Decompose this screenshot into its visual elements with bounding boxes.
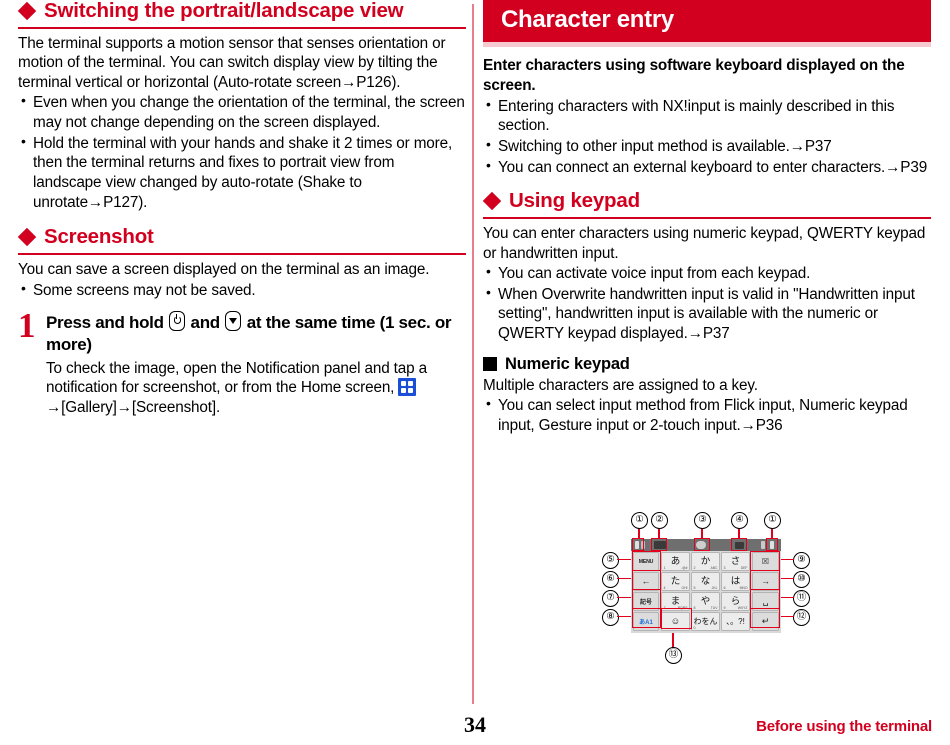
highlight-left-arrow-key — [632, 570, 661, 590]
manual-page: Switching the portrait/landscape view Th… — [0, 0, 950, 745]
page-number: 34 — [455, 712, 495, 738]
highlight-toolbar-handle-right — [766, 538, 778, 551]
step-description: To check the image, open the Notificatio… — [46, 359, 466, 418]
list-item: You can connect an external keyboard to … — [483, 158, 931, 178]
list-item: You can activate voice input from each k… — [483, 264, 931, 284]
callout-7: ⑦ — [602, 590, 619, 607]
list-item: You can select input method from Flick i… — [483, 396, 931, 435]
heading-text: Switching the portrait/landscape view — [44, 0, 403, 22]
square-bullet-icon — [483, 357, 497, 371]
step-content: Press and hold and at the same time (1 s… — [46, 311, 466, 417]
callout-1: ① — [631, 512, 648, 529]
kana-key-ha[interactable]: は 6 MNO — [721, 572, 750, 591]
step-1: 1 Press and hold and at the same time (1… — [18, 311, 466, 417]
list-item: Hold the terminal with your hands and sh… — [18, 134, 466, 213]
right-column: Character entry Enter characters using s… — [483, 0, 931, 436]
section-screenshot: Screenshot You can save a screen display… — [18, 226, 466, 417]
highlight-resize — [694, 538, 710, 551]
intro-bullet-list: Entering characters with NX!input is mai… — [483, 97, 931, 178]
volume-down-key-icon — [225, 311, 241, 331]
paragraph: Multiple characters are assigned to a ke… — [483, 376, 931, 396]
toolbar-handle-icon-3[interactable] — [761, 541, 765, 549]
callout-9: ⑨ — [793, 552, 810, 569]
heading-rule — [18, 253, 466, 255]
kana-key-ka[interactable]: か 2 ABC — [691, 552, 720, 571]
callout-13: ⑬ — [665, 647, 682, 664]
highlight-toolbar-handle — [632, 538, 644, 551]
heading-text: Numeric keypad — [505, 355, 630, 374]
kana-key-a[interactable]: あ 1 .@# — [661, 552, 690, 571]
column-divider — [472, 4, 474, 704]
bullet-list: You can activate voice input from each k… — [483, 264, 931, 344]
callout-1b: ① — [764, 512, 781, 529]
callout-2: ② — [651, 512, 668, 529]
left-column: Switching the portrait/landscape view Th… — [18, 0, 466, 418]
list-item: Even when you change the orientation of … — [18, 93, 466, 132]
list-item: Some screens may not be saved. — [18, 281, 466, 301]
section-using-keypad: Using keypad You can enter characters us… — [483, 190, 931, 343]
intro-paragraph: Enter characters using software keyboard… — [483, 56, 931, 95]
kana-key-ta[interactable]: た 4 GHI — [661, 572, 690, 591]
footer-chapter-label: Before using the terminal — [756, 718, 932, 735]
leader-line — [672, 633, 674, 648]
step-title-part1: Press and hold — [46, 313, 164, 332]
list-item: Entering characters with NX!input is mai… — [483, 97, 931, 136]
heading-rule — [18, 27, 466, 29]
highlight-emoji-key — [661, 608, 692, 629]
callout-11: ⑪ — [793, 590, 810, 607]
section-heading-screenshot: Screenshot — [18, 226, 466, 248]
step-desc-part1: To check the image, open the Notificatio… — [46, 360, 427, 397]
callout-8: ⑧ — [602, 609, 619, 626]
highlight-space-key — [750, 589, 780, 609]
callout-3: ③ — [694, 512, 711, 529]
chapter-banner: Character entry — [483, 0, 931, 42]
app-drawer-icon — [398, 378, 416, 396]
highlight-menu-key — [632, 551, 661, 571]
highlight-input-mode-key — [632, 608, 661, 628]
heading-rule — [483, 217, 931, 219]
callout-10: ⑩ — [793, 571, 810, 588]
highlight-right-arrow-key — [750, 570, 780, 590]
step-number: 1 — [18, 311, 46, 417]
bullet-list: Some screens may not be saved. — [18, 281, 466, 301]
kana-key-sa[interactable]: さ 3 DEF — [721, 552, 750, 571]
punctuation-key[interactable]: 、。?! — [721, 612, 750, 631]
section-heading-switching-view: Switching the portrait/landscape view — [18, 0, 466, 22]
heading-text: Screenshot — [44, 226, 154, 248]
paragraph: You can save a screen displayed on the t… — [18, 260, 466, 280]
banner-underline — [483, 42, 931, 47]
bullet-list: Even when you change the orientation of … — [18, 93, 466, 212]
highlight-symbol-key — [632, 589, 661, 609]
bullet-list: You can select input method from Flick i… — [483, 396, 931, 435]
heading-text: Using keypad — [509, 190, 640, 212]
list-item: Switching to other input method is avail… — [483, 137, 931, 157]
highlight-delete-key — [750, 551, 780, 571]
subsection-heading: Numeric keypad — [483, 355, 931, 374]
numeric-keypad-figure: ① ② ③ ④ ① ⑤ ⑥ ⑦ ⑧ ⑨ ⑩ ⑪ ⑫ ⑬ — [600, 508, 815, 668]
highlight-menu — [731, 538, 747, 551]
callout-12: ⑫ — [793, 609, 810, 626]
kana-key-na[interactable]: な 5 JKL — [691, 572, 720, 591]
highlight-enter-key — [750, 608, 780, 628]
kana-key-wa[interactable]: わをん 0 — [691, 612, 720, 631]
paragraph: The terminal supports a motion sensor th… — [18, 34, 466, 93]
power-key-icon — [169, 311, 185, 331]
step-title-part2: and — [191, 313, 220, 332]
callout-4: ④ — [731, 512, 748, 529]
kana-key-ya[interactable]: や 8 TUV — [691, 592, 720, 611]
kana-key-ra[interactable]: ら 9 WXYZ — [721, 592, 750, 611]
section-heading-using-keypad: Using keypad — [483, 190, 931, 212]
paragraph: You can enter characters using numeric k… — [483, 224, 931, 263]
highlight-keyboard-switch — [651, 538, 667, 551]
subsection-numeric-keypad: Numeric keypad Multiple characters are a… — [483, 355, 931, 436]
step-desc-part2: →[Gallery]→[Screenshot]. — [46, 399, 220, 416]
callout-5: ⑤ — [602, 552, 619, 569]
list-item: When Overwrite handwritten input is vali… — [483, 285, 931, 344]
callout-6: ⑥ — [602, 571, 619, 588]
step-title: Press and hold and at the same time (1 s… — [46, 311, 466, 355]
diamond-bullet-icon — [18, 2, 36, 20]
section-switching-view: Switching the portrait/landscape view Th… — [18, 0, 466, 212]
diamond-bullet-icon — [483, 192, 501, 210]
diamond-bullet-icon — [18, 228, 36, 246]
